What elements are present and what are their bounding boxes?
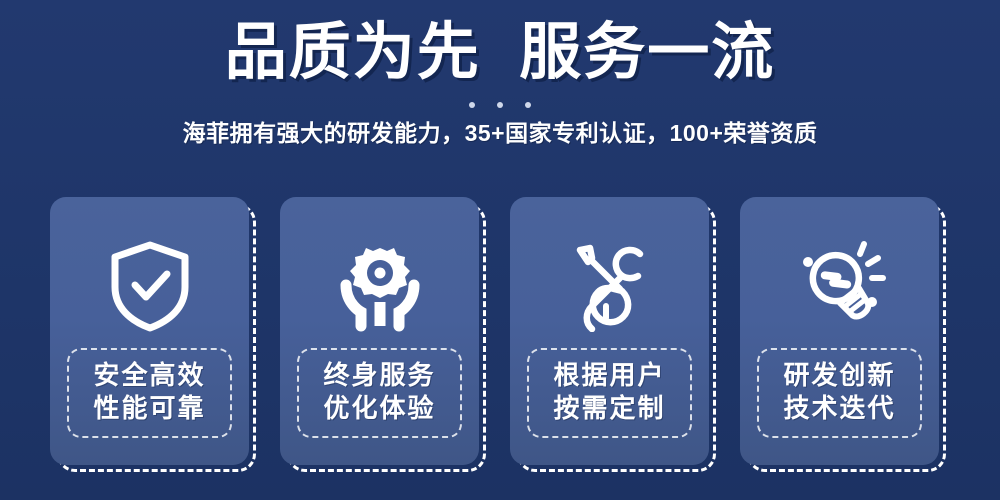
shield-check-icon [107,232,193,340]
card-label-box: 终身服务 优化体验 [297,348,462,438]
card-label-line1: 研发创新 [759,359,920,392]
lightbulb-idea-icon [792,232,888,340]
feature-card-service[interactable]: 终身服务 优化体验 [280,197,479,465]
separator-dot [497,102,503,108]
gear-in-hands-icon [334,232,426,340]
feature-card-safety[interactable]: 安全高效 性能可靠 [50,197,249,465]
card-label-line1: 终身服务 [299,359,460,392]
card-label-box: 根据用户 按需定制 [527,348,692,438]
card-label-box: 安全高效 性能可靠 [67,348,232,438]
separator-dot [525,102,531,108]
feature-card-list: 安全高效 性能可靠 [50,197,960,473]
feature-card-custom[interactable]: 根据用户 按需定制 [510,197,709,465]
card-label-line1: 根据用户 [529,359,690,392]
card-label-line2: 优化体验 [299,392,460,425]
dot-separator [0,102,1000,108]
banner-subtitle: 海菲拥有强大的研发能力，35+国家专利认证，100+荣誉资质 [0,118,1000,148]
promo-banner: 品质为先 服务一流 海菲拥有强大的研发能力，35+国家专利认证，100+荣誉资质 [0,0,1000,500]
separator-dot [469,102,475,108]
banner-header: 品质为先 服务一流 海菲拥有强大的研发能力，35+国家专利认证，100+荣誉资质 [0,18,1000,148]
card-label-line2: 按需定制 [529,392,690,425]
feature-card-innovation[interactable]: 研发创新 技术迭代 [740,197,939,465]
screwdriver-wrench-icon [564,232,656,340]
card-label-line2: 性能可靠 [69,392,230,425]
card-label-line1: 安全高效 [69,359,230,392]
card-label-box: 研发创新 技术迭代 [757,348,922,438]
card-label-line2: 技术迭代 [759,392,920,425]
banner-title: 品质为先 服务一流 [0,18,1000,88]
